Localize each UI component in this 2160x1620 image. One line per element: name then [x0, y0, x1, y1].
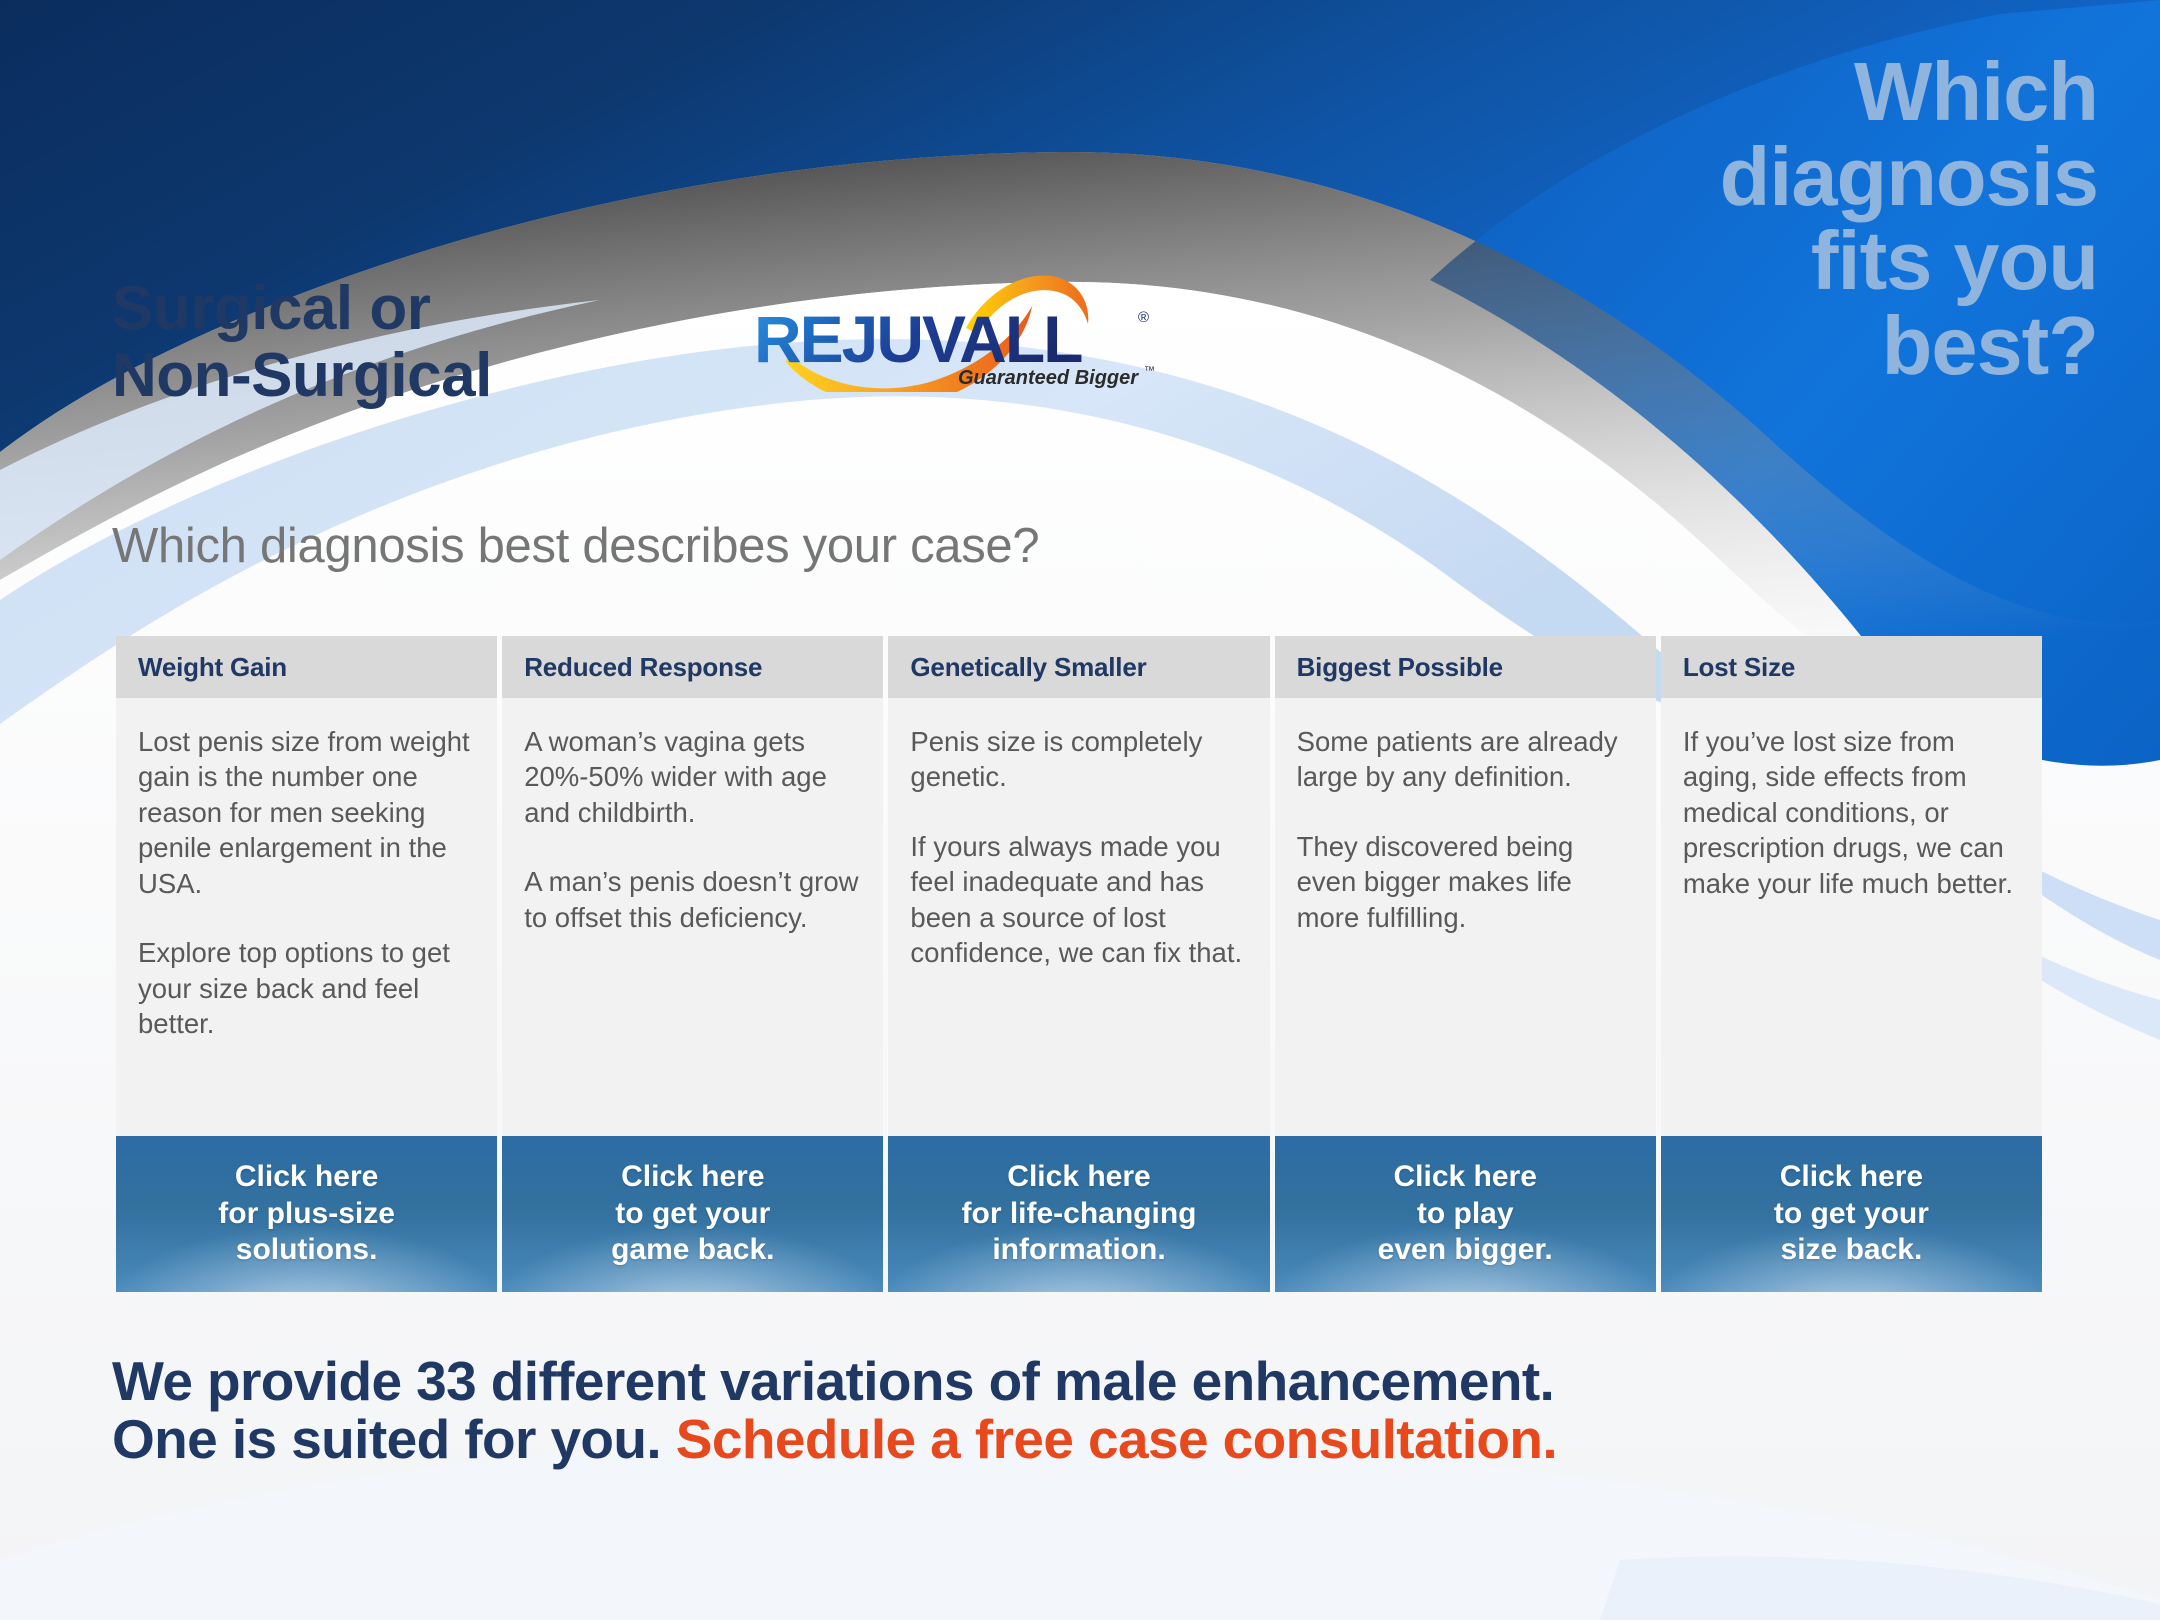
footer-line-2: One is suited for you. Schedule a free c…	[112, 1410, 2072, 1468]
cta-line: solutions.	[236, 1232, 378, 1269]
cta-line: even bigger.	[1378, 1232, 1553, 1269]
column-body: Lost penis size from weight gain is the …	[116, 698, 497, 1136]
cta-line: Click here	[621, 1159, 764, 1196]
diagnosis-table: Weight Gain Lost penis size from weight …	[116, 636, 2042, 1292]
column-paragraph: If yours always made you feel inadequate…	[910, 829, 1247, 971]
subtitle: Which diagnosis best describes your case…	[112, 518, 1039, 574]
cta-line: for plus-size	[218, 1196, 395, 1233]
diagnosis-column-genetically-smaller: Genetically Smaller Penis size is comple…	[888, 636, 1269, 1292]
cta-line: Click here	[1007, 1159, 1150, 1196]
column-paragraph: A woman’s vagina gets 20%-50% wider with…	[524, 724, 861, 830]
column-paragraph: Lost penis size from weight gain is the …	[138, 724, 475, 901]
hero-question: Which diagnosis fits you best?	[1478, 50, 2098, 389]
cta-button-plus-size-solutions[interactable]: Click here for plus-size solutions.	[116, 1136, 497, 1292]
column-paragraph: A man’s penis doesn’t grow to offset thi…	[524, 864, 861, 935]
diagnosis-column-biggest-possible: Biggest Possible Some patients are alrea…	[1275, 636, 1656, 1292]
cta-button-play-even-bigger[interactable]: Click here to play even bigger.	[1275, 1136, 1656, 1292]
logo-trademark-icon: ™	[1144, 365, 1155, 377]
column-body: If you’ve lost size from aging, side eff…	[1661, 698, 2042, 1136]
column-body: A woman’s vagina gets 20%-50% wider with…	[502, 698, 883, 1136]
diagnosis-column-weight-gain: Weight Gain Lost penis size from weight …	[116, 636, 497, 1292]
hero-question-line-3: fits you	[1478, 219, 2098, 304]
diagnosis-column-lost-size: Lost Size If you’ve lost size from aging…	[1661, 636, 2042, 1292]
column-header: Biggest Possible	[1275, 636, 1656, 698]
diagnosis-column-reduced-response: Reduced Response A woman’s vagina gets 2…	[502, 636, 883, 1292]
cta-button-get-your-game-back[interactable]: Click here to get your game back.	[502, 1136, 883, 1292]
column-header: Reduced Response	[502, 636, 883, 698]
column-body: Penis size is completely genetic. If you…	[888, 698, 1269, 1136]
cta-button-life-changing-information[interactable]: Click here for life-changing information…	[888, 1136, 1269, 1292]
hero-question-line-1: Which	[1478, 50, 2098, 135]
cta-line: to get your	[615, 1196, 770, 1233]
cta-line: to play	[1417, 1196, 1514, 1233]
cta-line: Click here	[235, 1159, 378, 1196]
cta-line: information.	[992, 1232, 1165, 1269]
hero-question-line-2: diagnosis	[1478, 135, 2098, 220]
cta-line: size back.	[1781, 1232, 1923, 1269]
page-title-line-2: Non-Surgical	[112, 343, 832, 410]
cta-line: to get your	[1774, 1196, 1929, 1233]
logo-tagline: Guaranteed Bigger	[958, 367, 1139, 389]
column-body: Some patients are already large by any d…	[1275, 698, 1656, 1136]
page-title-line-1: Surgical or	[112, 276, 832, 343]
footer-line-2-plain: One is suited for you.	[112, 1408, 676, 1470]
column-header: Genetically Smaller	[888, 636, 1269, 698]
cta-line: game back.	[611, 1232, 774, 1269]
footer-tagline: We provide 33 different variations of ma…	[112, 1352, 2072, 1469]
rejuvall-logo: REJUVALL ® Guaranteed Bigger ™	[730, 262, 1190, 392]
logo-registered-icon: ®	[1138, 309, 1149, 326]
column-paragraph: If you’ve lost size from aging, side eff…	[1683, 724, 2020, 901]
logo-artwork: REJUVALL ® Guaranteed Bigger ™	[730, 262, 1190, 392]
column-paragraph: They discovered being even bigger makes …	[1297, 829, 1634, 935]
footer-line-1: We provide 33 different variations of ma…	[112, 1352, 2072, 1410]
column-paragraph: Some patients are already large by any d…	[1297, 724, 1634, 795]
column-paragraph: Penis size is completely genetic.	[910, 724, 1247, 795]
cta-line: Click here	[1780, 1159, 1923, 1196]
column-header: Lost Size	[1661, 636, 2042, 698]
footer-consultation-link[interactable]: Schedule a free case consultation.	[676, 1408, 1557, 1470]
hero-question-line-4: best?	[1478, 304, 2098, 389]
page-title: Surgical or Non-Surgical	[112, 276, 832, 410]
logo-wordmark: REJUVALL	[754, 302, 1082, 376]
cta-line: Click here	[1394, 1159, 1537, 1196]
cta-line: for life-changing	[962, 1196, 1197, 1233]
column-header: Weight Gain	[116, 636, 497, 698]
cta-button-get-your-size-back[interactable]: Click here to get your size back.	[1661, 1136, 2042, 1292]
column-paragraph: Explore top options to get your size bac…	[138, 935, 475, 1041]
